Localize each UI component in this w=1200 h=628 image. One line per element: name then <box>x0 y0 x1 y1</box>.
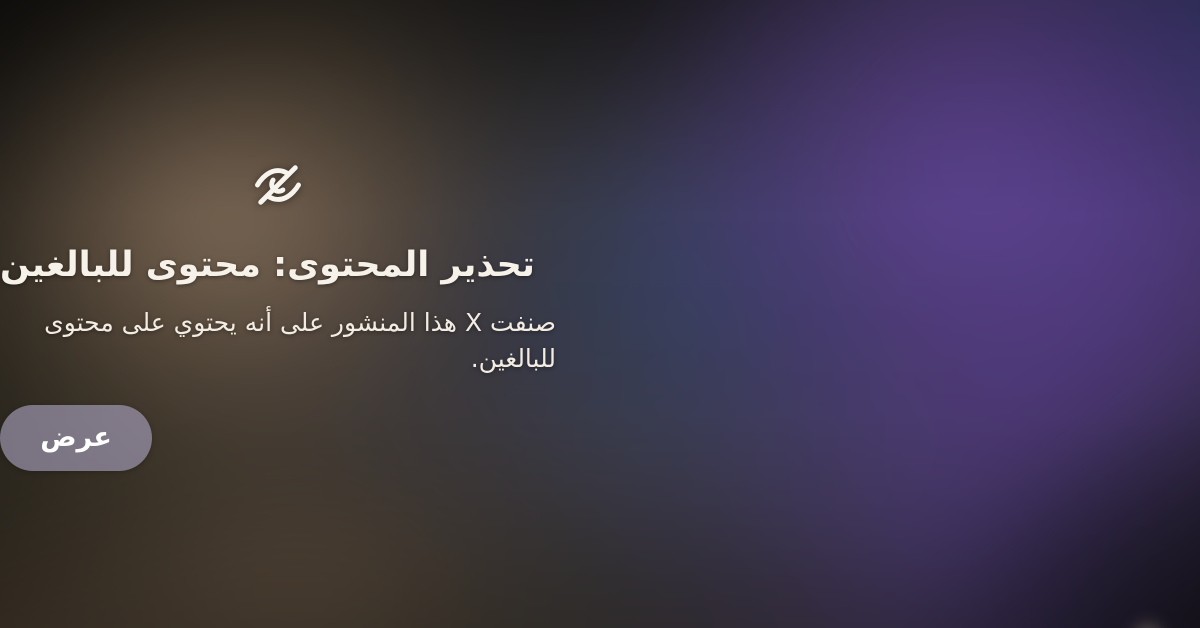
warning-description: صنفت X هذا المنشور على أنه يحتوي على محت… <box>0 305 556 378</box>
eye-off-icon <box>250 157 306 213</box>
view-button[interactable]: عرض <box>0 405 152 471</box>
warning-panel: تحذير المحتوى: محتوى للبالغين صنفت X هذا… <box>0 0 1200 628</box>
content-warning-overlay: تحذير المحتوى: محتوى للبالغين صنفت X هذا… <box>0 0 1200 628</box>
warning-panel-content: تحذير المحتوى: محتوى للبالغين صنفت X هذا… <box>0 157 556 471</box>
icon-row <box>0 157 556 213</box>
page-title: تحذير المحتوى: محتوى للبالغين <box>0 243 535 289</box>
